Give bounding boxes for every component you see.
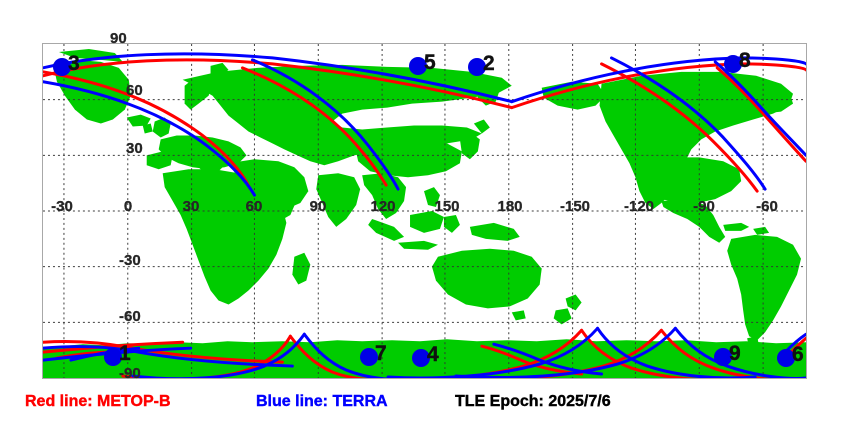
marker-label-2: 2	[483, 53, 495, 74]
lon-tick-30: 30	[176, 199, 206, 214]
marker-label-5: 5	[424, 52, 436, 73]
marker-label-7: 7	[375, 343, 387, 364]
ground-track-app: 90 60 30 -30 -60 -90 -30 0 30 60 90 120 …	[0, 0, 850, 425]
lon-tick-m30: -30	[42, 199, 82, 214]
lat-tick-90: 90	[110, 31, 127, 46]
marker-label-6: 6	[792, 344, 804, 365]
lon-tick-m150: -150	[551, 199, 599, 214]
lon-tick-m120: -120	[615, 199, 663, 214]
marker-label-1: 1	[119, 343, 131, 364]
lat-tick-m30: -30	[119, 253, 141, 268]
lat-tick-30: 30	[126, 141, 143, 156]
lon-tick-120: 120	[363, 199, 403, 214]
lat-tick-m60: -60	[119, 309, 141, 324]
legend-red-line: Red line: METOP-B	[25, 394, 171, 410]
legend: Red line: METOP-B Blue line: TERRA TLE E…	[0, 394, 850, 420]
lon-tick-90: 90	[303, 199, 333, 214]
lon-tick-150: 150	[427, 199, 467, 214]
lat-tick-m90: -90	[119, 366, 141, 381]
legend-tle-epoch: TLE Epoch: 2025/7/6	[455, 394, 611, 410]
legend-blue-line: Blue line: TERRA	[256, 394, 388, 410]
marker-label-3: 3	[68, 53, 80, 74]
lat-tick-60: 60	[126, 83, 143, 98]
lon-tick-60: 60	[239, 199, 269, 214]
lon-tick-m60: -60	[747, 199, 787, 214]
marker-label-8: 8	[739, 50, 751, 71]
marker-label-4: 4	[427, 344, 439, 365]
lon-tick-m90: -90	[684, 199, 724, 214]
marker-label-9: 9	[729, 343, 741, 364]
lon-tick-180: 180	[490, 199, 530, 214]
lon-tick-0: 0	[113, 199, 143, 214]
